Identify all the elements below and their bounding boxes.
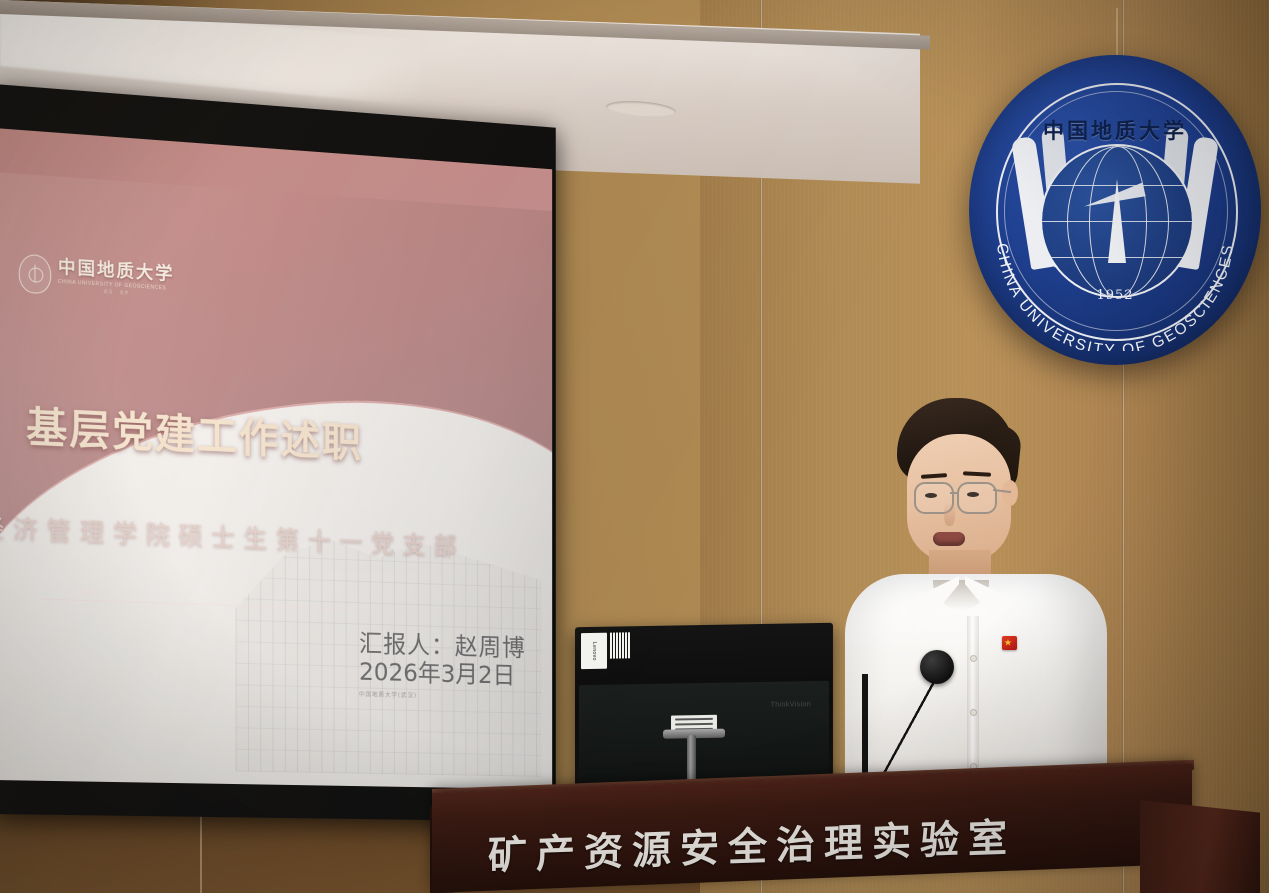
slide-logo-text: 中国地质大学 CHINA UNIVERSITY OF GEOSCIENCES 武… — [58, 259, 174, 298]
slide-mountain-motif-icon: △△△ — [76, 585, 93, 596]
monitor-brand-sticker: Lenovo — [581, 633, 607, 669]
podium-side-panel — [1140, 800, 1260, 893]
projection-screen: 中国地质大学 CHINA UNIVERSITY OF GEOSCIENCES 武… — [0, 84, 556, 822]
speaker-glasses-lens — [957, 482, 997, 514]
shirt-button — [971, 710, 976, 715]
emblem-en-arc-text: CHINA UNIVERSITY OF GEOSCIENCES — [985, 231, 1245, 351]
slide-logo-en-sub: 武汉 · 北京 — [104, 290, 130, 296]
ceiling-speaker-vent — [606, 99, 676, 119]
emblem-hanging-wire — [1116, 8, 1118, 58]
university-emblem: 中国地质大学 1952 CHINA UNIVERSITY OF GEOSCIEN… — [969, 55, 1261, 365]
party-emblem-pin-icon — [1002, 636, 1017, 650]
projected-slide: 中国地质大学 CHINA UNIVERSITY OF GEOSCIENCES 武… — [0, 128, 552, 789]
presentation-room-scene: 中国地质大学 CHINA UNIVERSITY OF GEOSCIENCES 武… — [0, 0, 1269, 893]
speaker-nose — [944, 502, 955, 526]
emblem-cn-text: 中国地质大学 — [1043, 115, 1187, 145]
monitor-barcode-sticker — [609, 632, 631, 658]
shirt-button — [971, 656, 976, 661]
microphone-head-icon[interactable] — [920, 650, 954, 684]
slide-date: 2026年3月2日 — [359, 658, 526, 691]
university-crest-icon — [19, 253, 51, 294]
svg-text:CHINA UNIVERSITY OF GEOSCIENCE: CHINA UNIVERSITY OF GEOSCIENCES — [993, 242, 1237, 351]
speaker-glasses-bridge — [950, 492, 959, 494]
slide-presenter-block: 汇报人：赵周博 2026年3月2日 中国地质大学(武汉) — [359, 629, 526, 702]
monitor-model-brand: ThinkVision — [771, 701, 811, 709]
speaker-mouth — [933, 532, 965, 546]
emblem-en-text: CHINA UNIVERSITY OF GEOSCIENCES — [993, 242, 1237, 351]
